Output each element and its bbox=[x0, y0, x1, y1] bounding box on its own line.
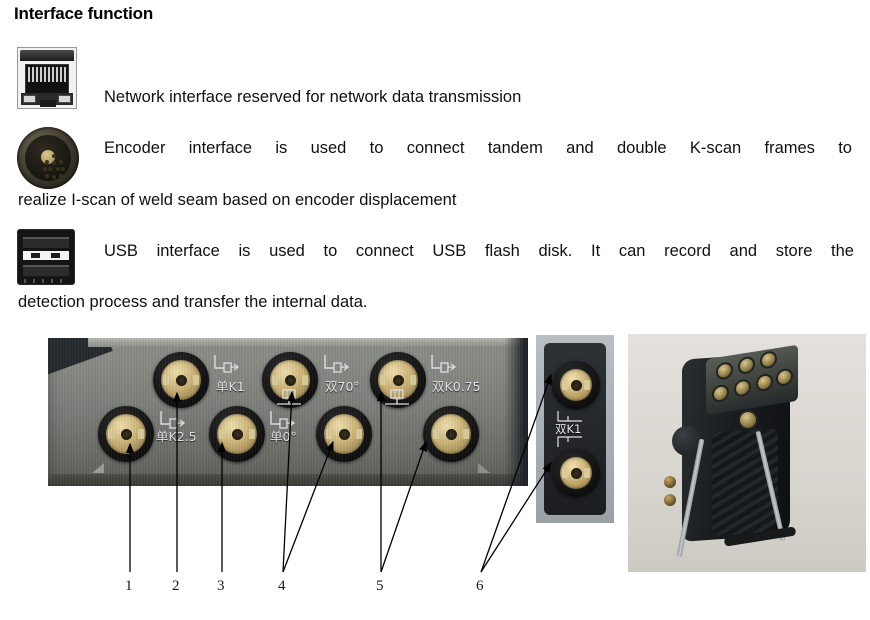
dual-connector-inset-photo: 双K1 bbox=[536, 335, 614, 523]
label-dan-k25: 单K2.5 bbox=[156, 426, 197, 445]
label-shuang-70: 双70° bbox=[325, 376, 360, 395]
probe-glyph-dual-2 bbox=[382, 388, 412, 405]
network-interface-description: Network interface reserved for network d… bbox=[104, 87, 864, 108]
bnc-connector-6 bbox=[423, 406, 479, 462]
usb-interface-description: USB interface is used to connect USB fla… bbox=[104, 241, 854, 283]
probe-glyph-dual-1 bbox=[274, 388, 304, 405]
bnc-connector-dan-k25 bbox=[209, 406, 265, 462]
bnc-connector-inset-bottom bbox=[552, 449, 600, 497]
label-dan-k1: 单K1 bbox=[216, 376, 245, 395]
callout-number-4: 4 bbox=[278, 578, 286, 595]
circular-encoder-connector-icon bbox=[17, 127, 79, 189]
probe-glyph-single-3 bbox=[431, 354, 457, 376]
bnc-connector-1 bbox=[98, 406, 154, 462]
callout-number-6: 6 bbox=[476, 578, 484, 595]
page-title: Interface function bbox=[14, 4, 153, 24]
callout-number-3: 3 bbox=[217, 578, 225, 595]
probe-glyph-single-2 bbox=[324, 354, 350, 376]
device-side-view-photo bbox=[628, 334, 866, 572]
connector-panel-figure: 单K1 单K2.5 单0° 双70° 双K0.75 双K1 bbox=[0, 330, 870, 620]
callout-number-5: 5 bbox=[376, 578, 384, 595]
probe-glyph-single-1 bbox=[214, 354, 240, 376]
label-shuang-k075: 双K0.75 bbox=[432, 376, 481, 395]
bnc-connector-dan-k1 bbox=[153, 352, 209, 408]
encoder-line-1: Encoder interface is used to connect tan… bbox=[104, 138, 852, 180]
encoder-interface-description-continued: realize I-scan of weld seam based on enc… bbox=[18, 190, 778, 211]
rj45-network-jack-icon bbox=[17, 47, 77, 109]
label-dan-0deg: 单0° bbox=[270, 426, 297, 445]
bnc-connector-dan-0deg bbox=[316, 406, 372, 462]
callout-number-1: 1 bbox=[125, 578, 133, 595]
usb-line-1: USB interface is used to connect USB fla… bbox=[104, 241, 854, 283]
probe-glyph-inset-bottom bbox=[556, 435, 584, 449]
encoder-interface-description: Encoder interface is used to connect tan… bbox=[104, 138, 852, 180]
dual-usb-port-icon bbox=[17, 229, 75, 285]
connector-panel-photo: 单K1 单K2.5 单0° 双70° 双K0.75 bbox=[48, 338, 528, 486]
callout-number-2: 2 bbox=[172, 578, 180, 595]
usb-interface-description-continued: detection process and transfer the inter… bbox=[18, 292, 778, 313]
bnc-connector-inset-top bbox=[552, 361, 600, 409]
